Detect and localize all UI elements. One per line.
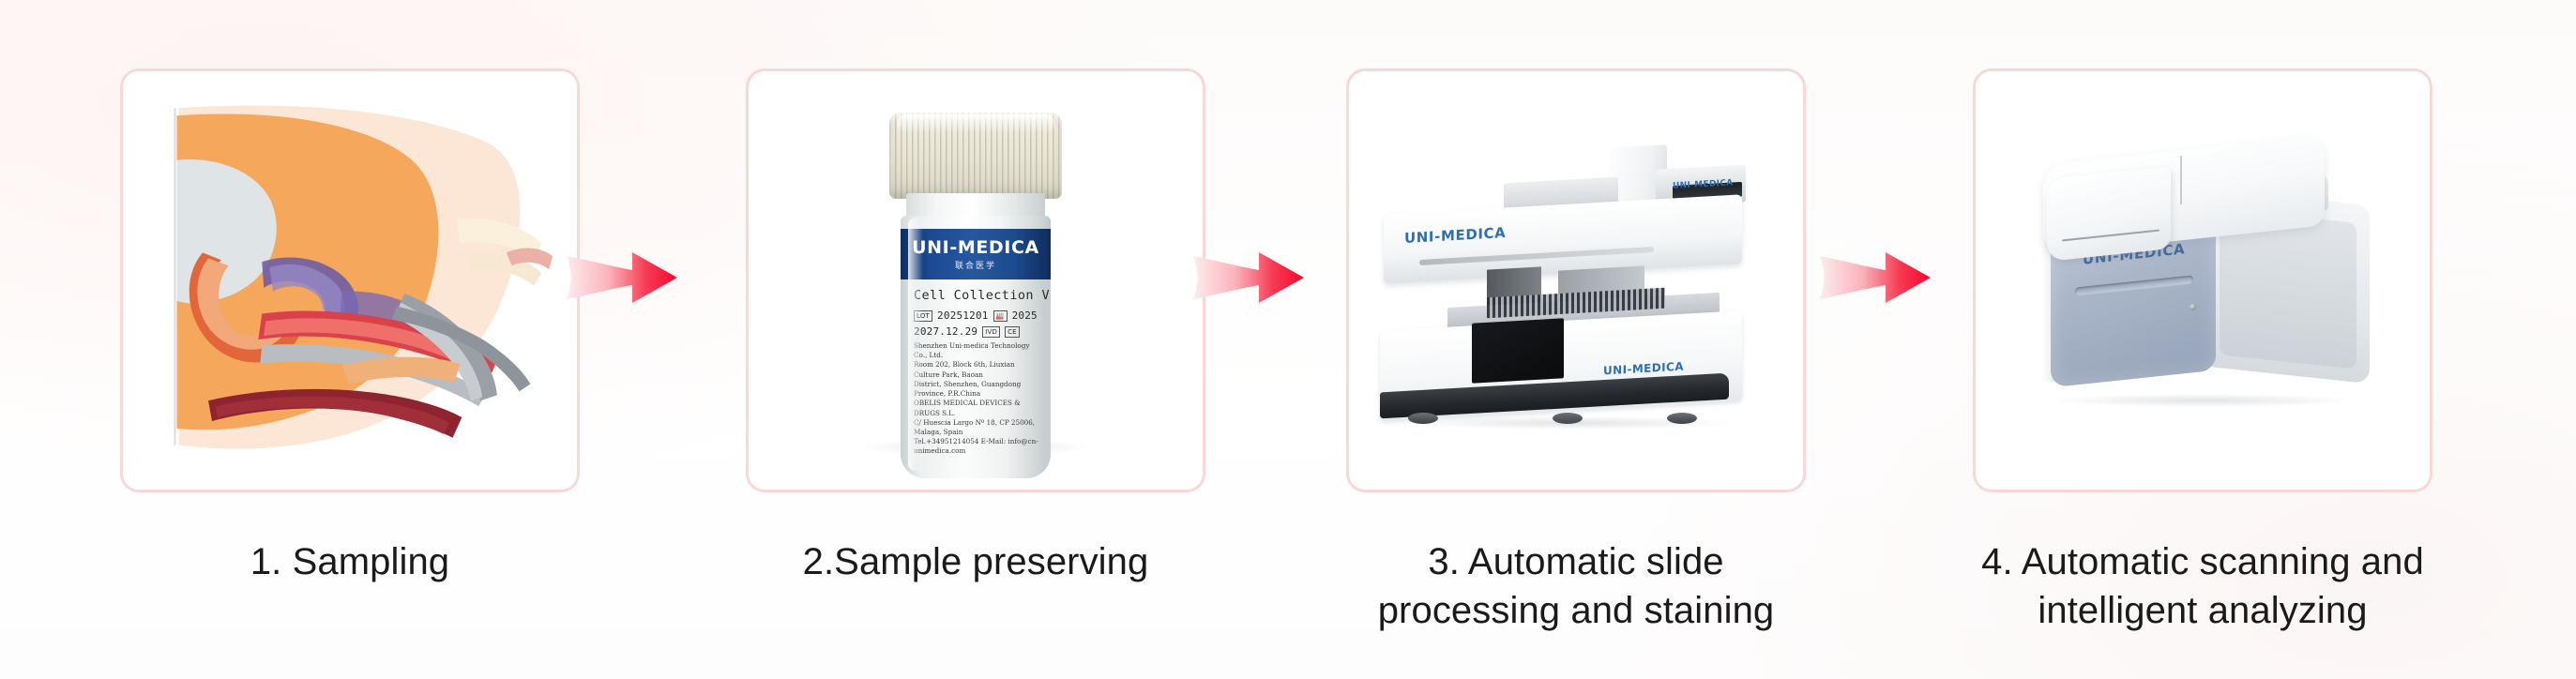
- step-scanning-analyzing[interactable]: UNI-MEDICA 4. Automatic scanning and int…: [1940, 68, 2465, 635]
- machine-shadow: [1412, 416, 1731, 430]
- vial-highlight: [908, 218, 923, 471]
- vial-lot-value: 20251201: [937, 309, 989, 322]
- factory-icon: 🏭: [993, 310, 1008, 322]
- vial-product-title: Cell Collection Vial: [914, 288, 1039, 303]
- step-sample-preserving[interactable]: UNI-MEDICA 联合医学 Cell Collection Vial LOT…: [713, 68, 1238, 586]
- vial-brand-cn: 联合医学: [955, 259, 996, 271]
- ce-icon: CE: [1005, 326, 1020, 338]
- scanner-top-seam: [2180, 156, 2182, 204]
- machine-touchscreen[interactable]: [1472, 318, 1564, 383]
- vial-expiry-value: 2027.12.29: [914, 325, 977, 338]
- ivd-icon: IVD: [982, 326, 1000, 338]
- step-slide-processing-caption: 3. Automatic slide processing and staini…: [1313, 537, 1839, 635]
- arrow-2-to-3: [1193, 249, 1304, 307]
- vial-ref-value: 2025: [1012, 309, 1038, 322]
- step-sampling-caption: 1. Sampling: [87, 537, 613, 586]
- vial-expiry-row: 2027.12.29 IVD CE: [914, 325, 1039, 338]
- vial-body: UNI-MEDICA 联合医学 Cell Collection Vial LOT…: [901, 216, 1051, 478]
- step-scanning-analyzing-card[interactable]: UNI-MEDICA: [1973, 68, 2432, 492]
- step-sample-preserving-caption: 2.Sample preserving: [713, 537, 1238, 586]
- vial-fine-print: Shenzhen Uni-medica Technology Co., Ltd.…: [914, 341, 1039, 457]
- arrow-3-to-4: [1820, 249, 1931, 307]
- step-scanning-analyzing-caption: 4. Automatic scanning and intelligent an…: [1940, 537, 2465, 635]
- vial-cap: [889, 113, 1062, 199]
- slide-stainer-machine: UNI-MEDICA UNI-MEDICA UNI-MEDICA: [1374, 126, 1778, 435]
- step-sampling[interactable]: 1. Sampling: [87, 68, 613, 586]
- vial-label: Cell Collection Vial LOT 20251201 🏭 2025…: [901, 279, 1051, 478]
- step-sampling-card[interactable]: [120, 68, 580, 492]
- scanner-lid[interactable]: [2047, 166, 2171, 262]
- step-sample-preserving-card[interactable]: UNI-MEDICA 联合医学 Cell Collection Vial LOT…: [746, 68, 1205, 492]
- vial-brand-text: UNI-MEDICA: [912, 237, 1039, 258]
- arrow-1-to-2: [567, 249, 677, 307]
- slide-scanner-machine: UNI-MEDICA: [2013, 144, 2392, 416]
- step-slide-processing-card[interactable]: UNI-MEDICA UNI-MEDICA UNI-MEDICA: [1346, 68, 1806, 492]
- vial-brand-band: UNI-MEDICA 联合医学: [901, 229, 1051, 279]
- workflow-diagram: 1. Sampling: [0, 0, 2576, 679]
- anatomy-illustration: [123, 71, 577, 490]
- step-slide-processing[interactable]: UNI-MEDICA UNI-MEDICA UNI-MEDICA 3. Auto…: [1313, 68, 1839, 635]
- vial-lot-row: LOT 20251201 🏭 2025: [914, 309, 1039, 322]
- scanner-shadow: [2053, 394, 2353, 407]
- cell-collection-vial: UNI-MEDICA 联合医学 Cell Collection Vial LOT…: [884, 113, 1068, 492]
